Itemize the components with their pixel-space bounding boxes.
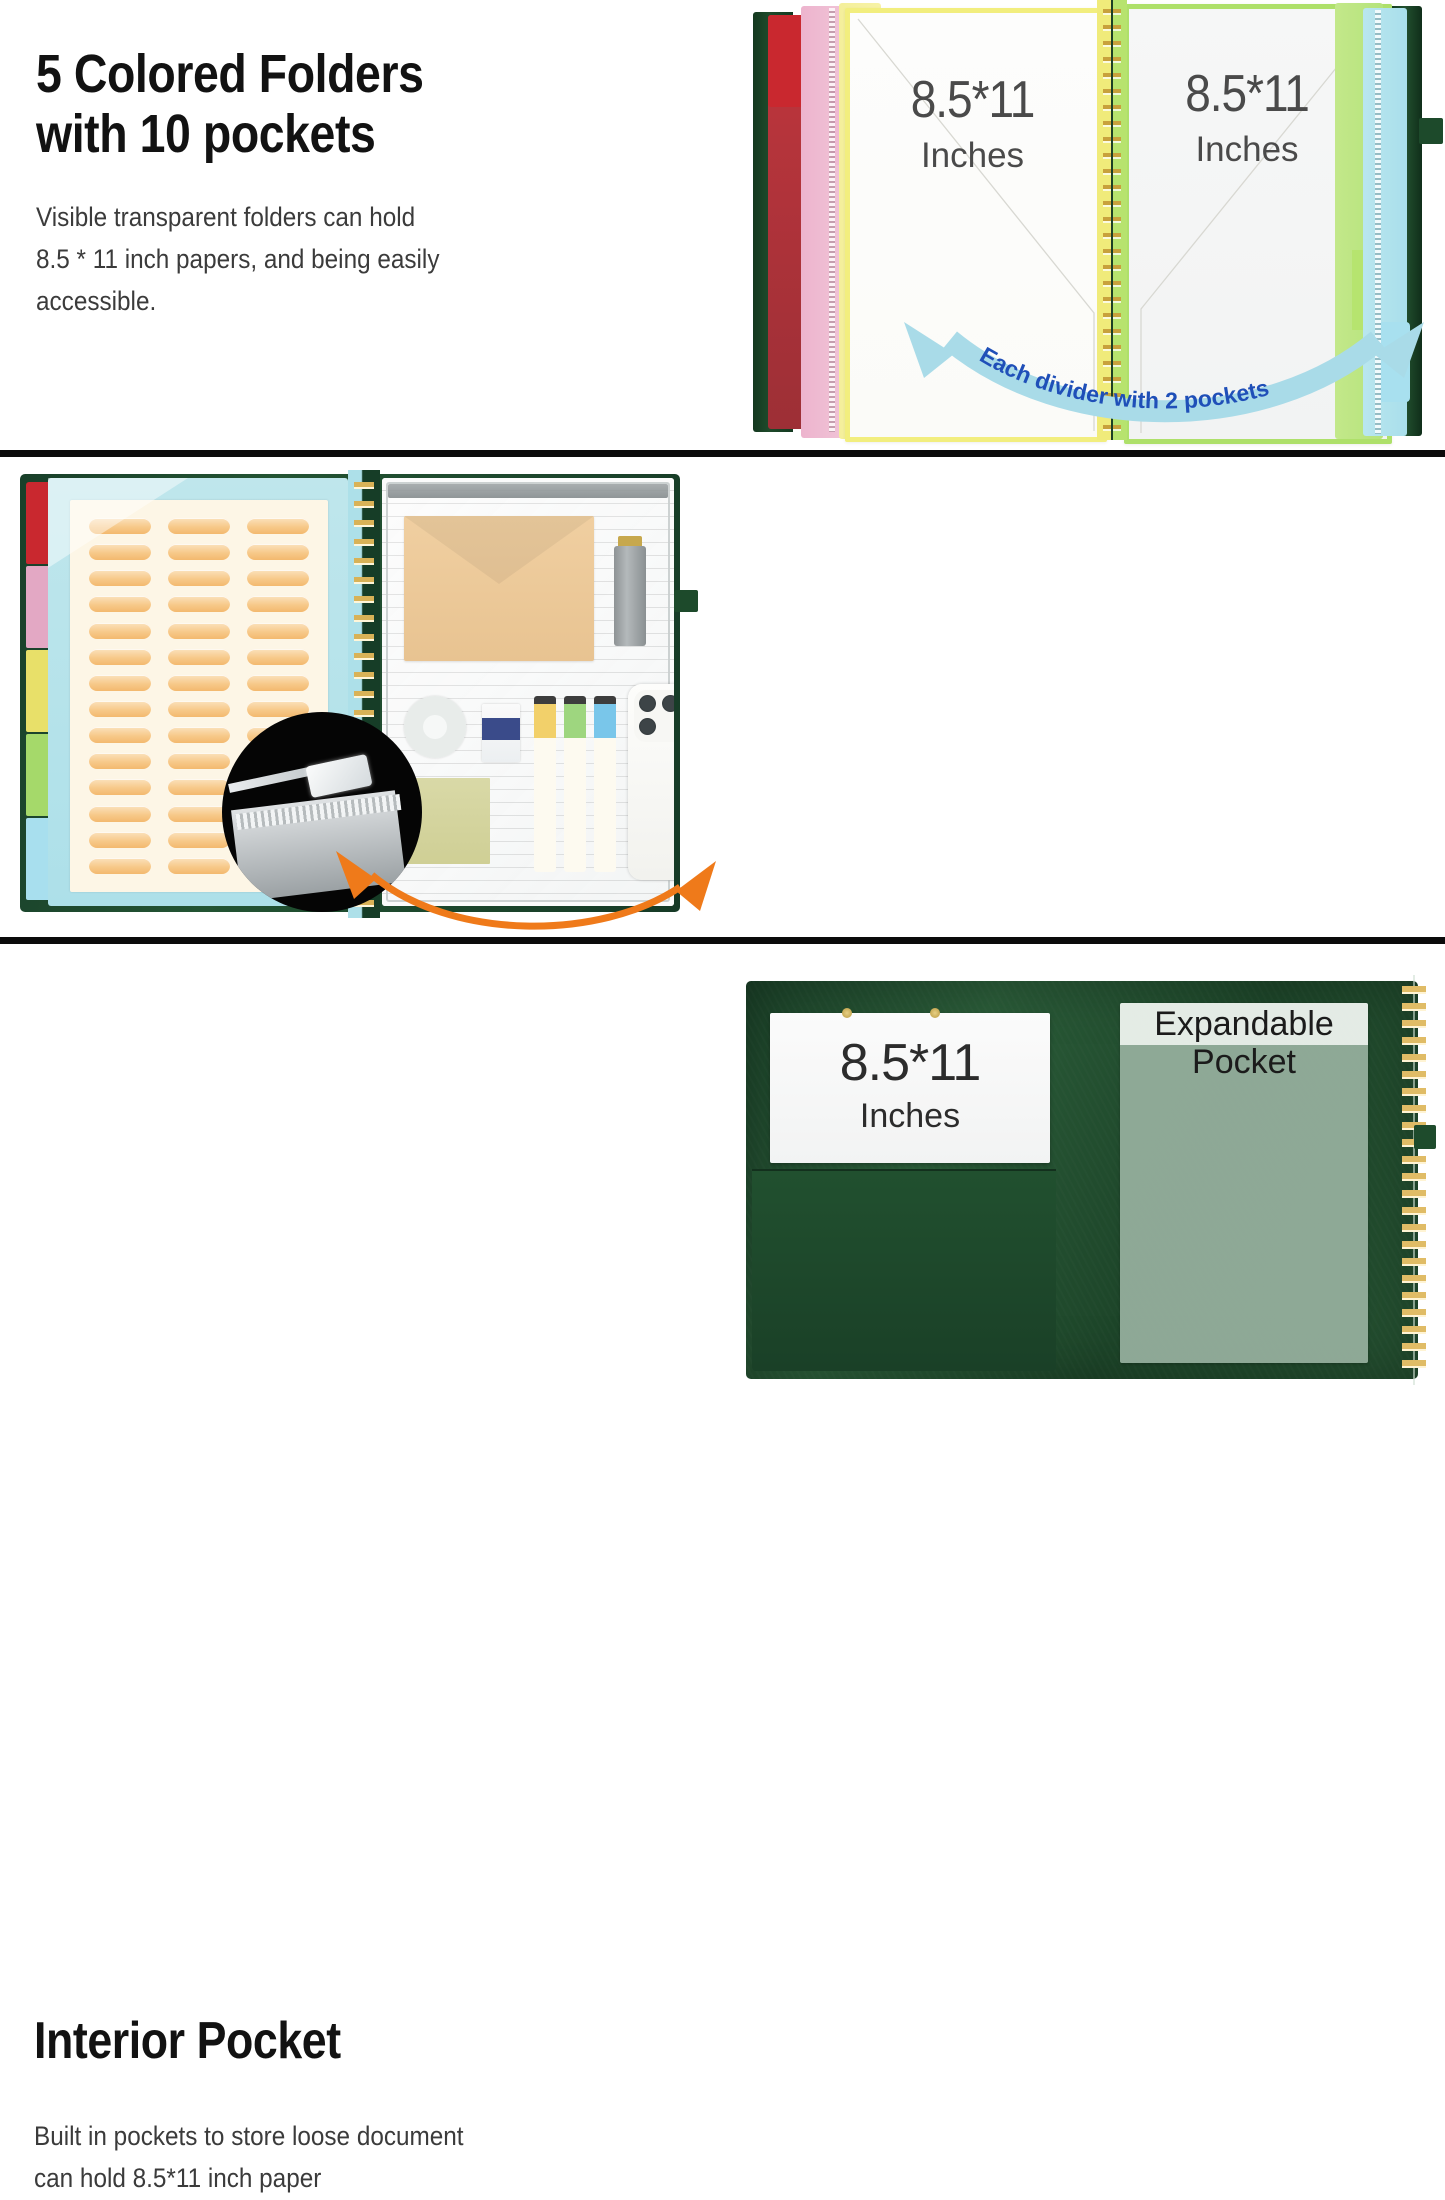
sticker-label [247,675,309,691]
perforation-strip-left [829,8,835,432]
page-size-unit-right: Inches [1131,130,1363,170]
notebook-elastic-tab-3 [1414,1125,1436,1149]
kraft-envelope [404,516,594,661]
sticker-label [89,779,151,795]
zipper-pull-tab [305,754,372,798]
page-size-label-right: 8.5*11 Inches [1131,66,1363,170]
binding-rivet [842,1008,852,1018]
usb-flash-drive [614,546,646,646]
sticker-label [247,544,309,560]
paper-size-unit: Inches [774,1097,1046,1136]
page-size-unit-left: Inches [865,136,1080,176]
sticker-label [89,806,151,822]
sticker-column [168,518,230,874]
panel-3-body: Built in pockets to store loose document… [34,2116,664,2200]
sticker-label [168,701,230,717]
washi-tape-roll [404,696,466,758]
notebook-coil-rings-3 [1402,981,1426,1377]
sticker-label [168,649,230,665]
paper-size-number: 8.5*11 [774,1033,1046,1093]
panel-1-body: Visible transparent folders can hold 8.5… [36,197,666,323]
paper-size-label: 8.5*11 Inches [774,1033,1046,1136]
divider-arrow-caption: Each divider with 2 pockets [976,342,1272,414]
divider-pockets-arrow: Each divider with 2 pockets [890,320,1435,440]
sticker-label [168,806,230,822]
sticker-label [168,675,230,691]
expandable-pocket-label-line1: Expandable [1120,1005,1368,1043]
zipper-callout-arrow [330,845,720,935]
binding-rivet [930,1008,940,1018]
sticker-label [168,727,230,743]
phone-camera-module [634,690,674,742]
panel-1-text: 5 Colored Folders with 10 pockets Visibl… [36,44,736,322]
sticker-label [247,623,309,639]
sticker-label [89,544,151,560]
sticker-label [247,570,309,586]
page-size-number-right: 8.5*11 [1131,63,1363,123]
sticker-label [247,518,309,534]
sticker-column [89,518,151,874]
sticker-label [89,623,151,639]
interior-left-pocket [752,1169,1056,1371]
page-size-number-left: 8.5*11 [865,69,1080,129]
notebook-spine-3 [1068,975,1100,1385]
panel-1-headline: 5 Colored Folders with 10 pockets [36,44,638,165]
panel-divider-rule-2 [0,937,1445,944]
sticker-label [89,832,151,848]
page-size-label-left: 8.5*11 Inches [865,72,1080,176]
panel-3-headline: Interior Pocket [34,2012,636,2070]
sticker-label [168,623,230,639]
sticker-label [89,570,151,586]
panel-3-text: Interior Pocket Built in pockets to stor… [34,2012,734,2200]
elastic-closure-tab [1419,118,1443,144]
sticker-label [89,753,151,769]
sticker-label [89,701,151,717]
sticker-label [89,727,151,743]
sticker-label [89,649,151,665]
pvc-zipper-pouch [382,478,674,906]
sticker-label [168,596,230,612]
sticker-label [247,596,309,612]
sticker-label [247,649,309,665]
sticker-label [89,675,151,691]
panel-colored-folders: 5 Colored Folders with 10 pockets Visibl… [0,0,1445,453]
sticker-label [168,779,230,795]
sticker-label [89,858,151,874]
infographic-page: 5 Colored Folders with 10 pockets Visibl… [0,0,1445,1393]
sticker-label [168,570,230,586]
sticker-label [168,753,230,769]
eraser-band [482,718,520,740]
svg-text:Each divider with 2 pockets: Each divider with 2 pockets [976,342,1272,414]
interior-pocket-image: 8.5*11 Inches Expandable Pocket [738,975,1438,1385]
sticker-label [168,858,230,874]
sticker-label [168,518,230,534]
sticker-label [89,518,151,534]
notebook-elastic-tab [674,590,698,612]
sticker-label [168,544,230,560]
zipper-strip [388,484,668,498]
sticker-label [168,832,230,848]
expandable-pocket-label-line2: Pocket [1120,1043,1368,1081]
open-binder-with-dividers-image: 8.5*11 Inches 8.5*11 Inches Each divider… [735,0,1445,445]
sticker-label [89,596,151,612]
expandable-pocket-label: Expandable Pocket [1120,1005,1368,1081]
